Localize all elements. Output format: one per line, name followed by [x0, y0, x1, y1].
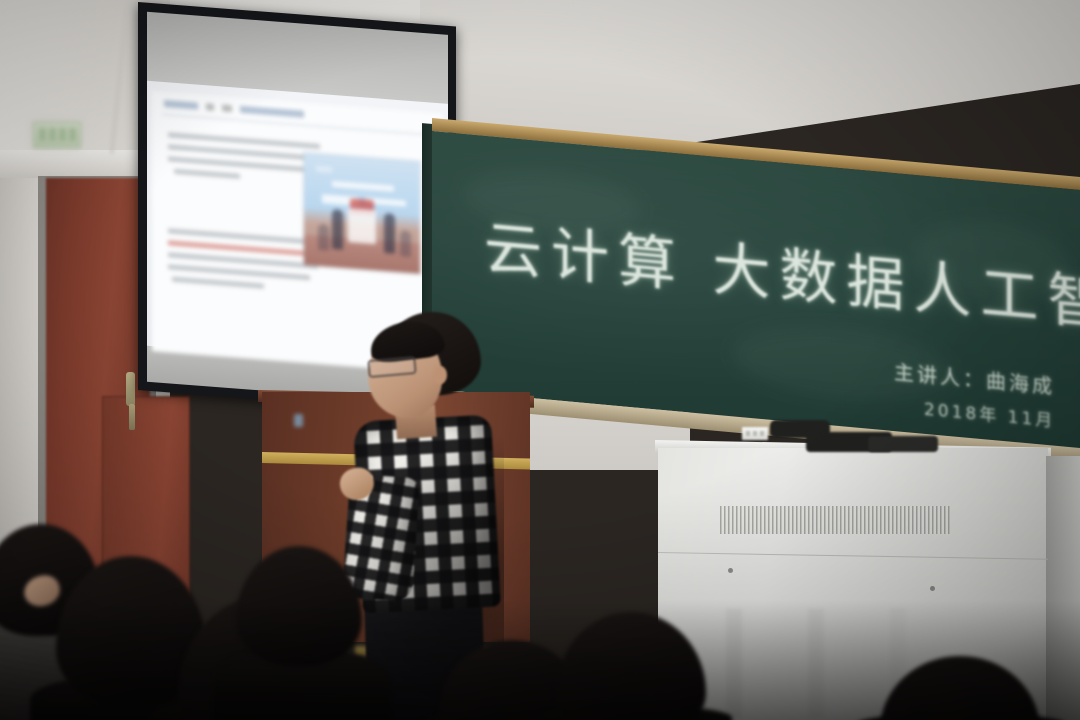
- cabinet-right-side: [1046, 456, 1080, 720]
- lectern-badge: [294, 414, 303, 427]
- cabinet-screw: [728, 568, 733, 573]
- speaker-ear: [434, 366, 447, 384]
- cabinet-lower-vent: [726, 610, 742, 720]
- slide-text-block-1: [168, 132, 308, 191]
- slide-title-segment: [222, 104, 232, 112]
- slide-text-line: [174, 169, 240, 179]
- cabinet-vent-grille: [720, 506, 950, 534]
- door-handle-icon[interactable]: [126, 372, 135, 406]
- cabinet-screw: [930, 586, 935, 591]
- slide-title-segment: [206, 103, 214, 111]
- slide-title-segment: [240, 106, 304, 118]
- lecture-hall-photo: 云计算 大数据人工智能 主讲人：曲海成 2018年 11月: [0, 0, 1080, 720]
- chalk-box: [742, 427, 768, 440]
- equipment-item: [868, 436, 938, 452]
- slide-text-block-2: [168, 228, 308, 299]
- slide-title-segment: [164, 100, 198, 110]
- slide-text-line: [172, 277, 264, 289]
- door-lock-icon: [129, 404, 135, 430]
- slide-photo: [304, 153, 420, 274]
- emergency-exit-sign: [33, 122, 81, 148]
- cabinet-lower-vent: [808, 610, 824, 720]
